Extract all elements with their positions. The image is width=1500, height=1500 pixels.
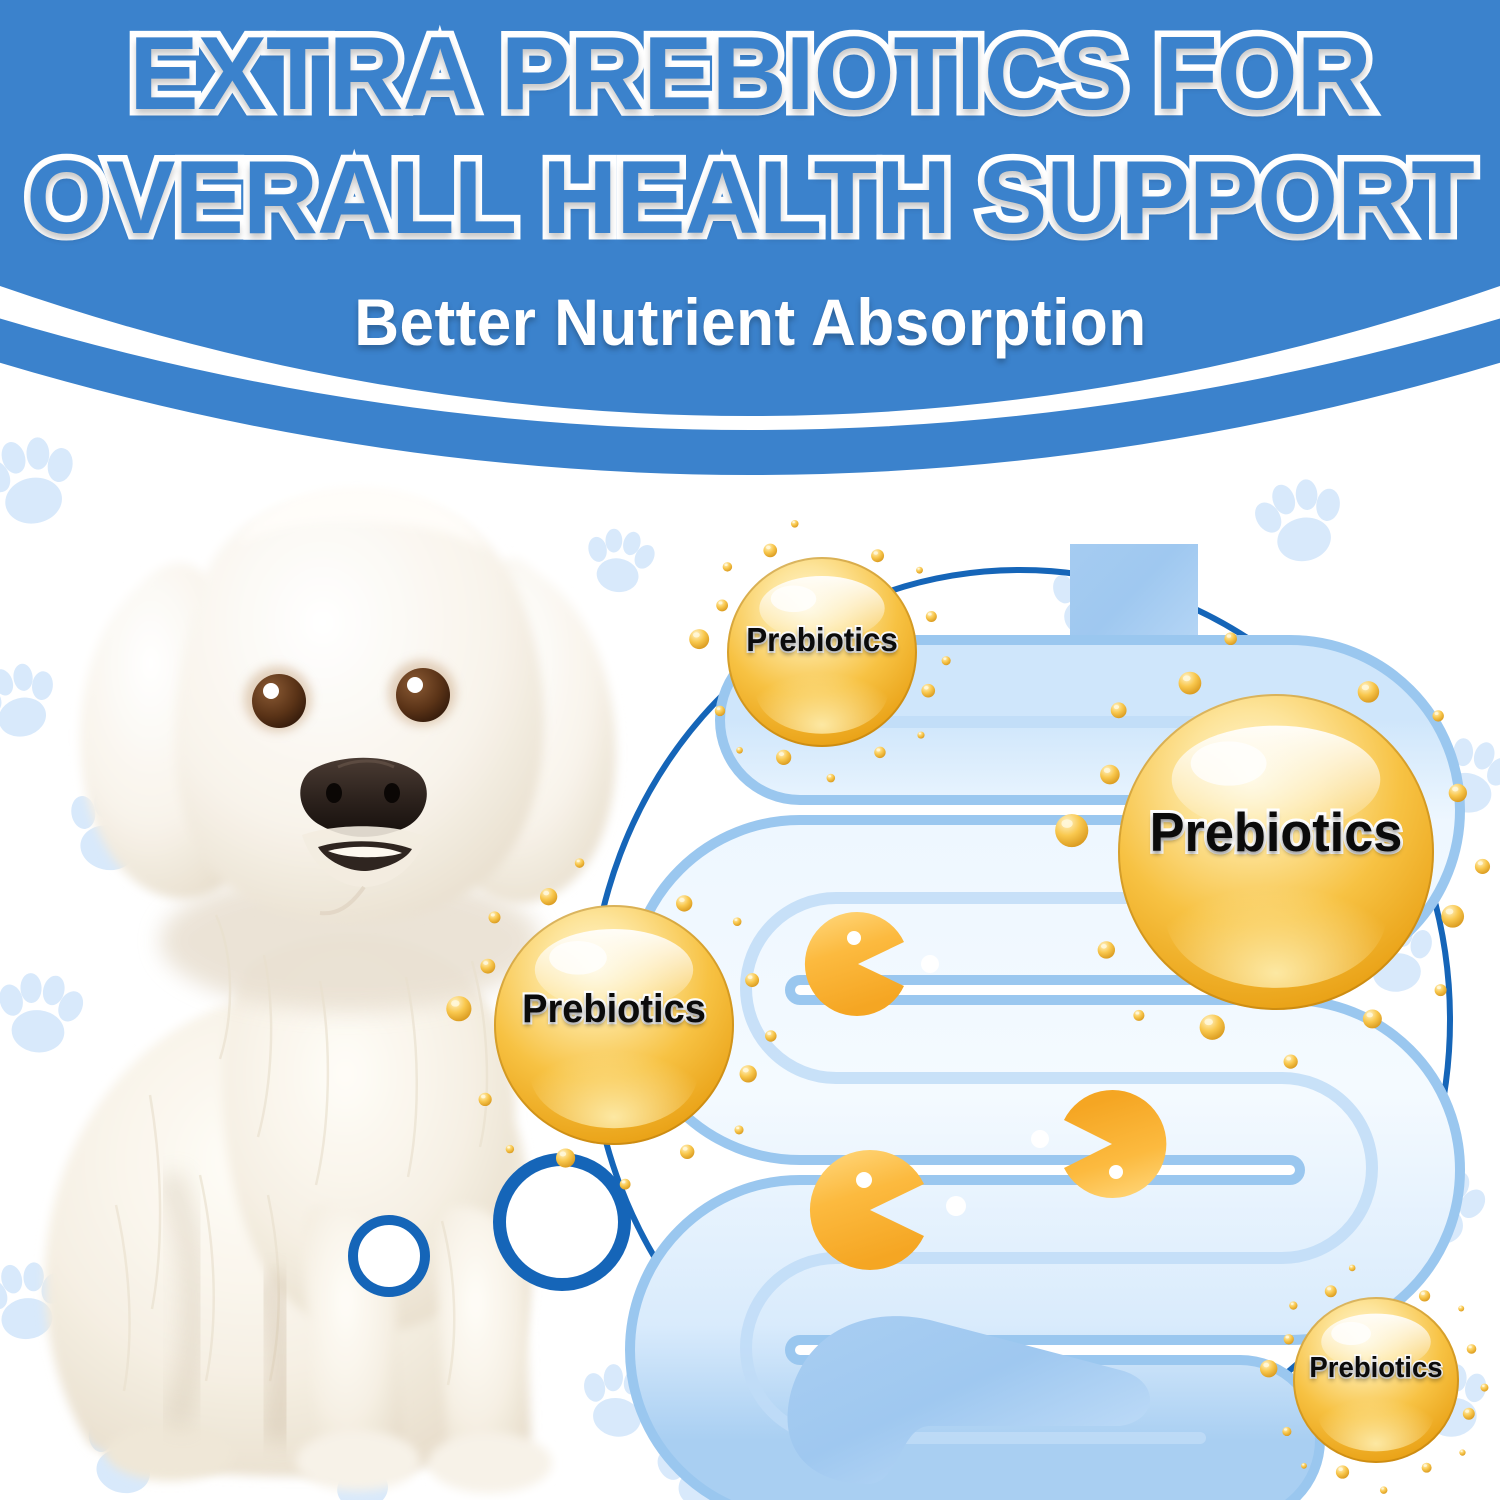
banner-title-line2: OVERALL HEALTH SUPPORT <box>26 148 1474 250</box>
bubble-bottom-right: Prebiotics <box>1217 1221 1500 1500</box>
bubble-mid-left: Prebiotics <box>384 795 844 1255</box>
bubble-mid-left-graphic <box>384 795 844 1255</box>
bubble-large-right-graphic <box>973 549 1500 1155</box>
bubble-top-left-graphic <box>640 470 1004 834</box>
ad-canvas: EXTRA PREBIOTICS FOR OVERALL HEALTH SUPP… <box>0 0 1500 1500</box>
bubble-top-left: Prebiotics <box>640 470 1004 834</box>
banner-text-block: EXTRA PREBIOTICS FOR OVERALL HEALTH SUPP… <box>0 0 1500 430</box>
food-pellet-1 <box>921 955 939 973</box>
food-pellet-3 <box>946 1196 966 1216</box>
bubble-large-right: Prebiotics <box>973 549 1500 1155</box>
banner-title-line1: EXTRA PREBIOTICS FOR <box>26 24 1474 126</box>
banner-subtitle: Better Nutrient Absorption <box>354 284 1146 360</box>
bubble-bottom-right-graphic <box>1217 1221 1500 1500</box>
